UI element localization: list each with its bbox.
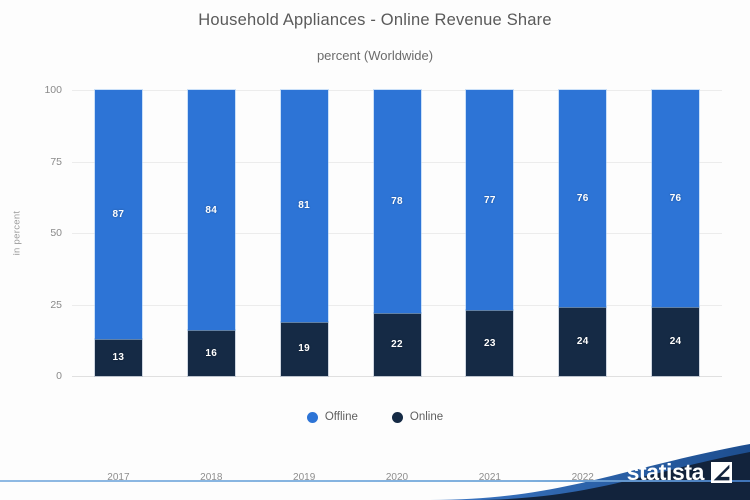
- bar-column[interactable]: 2476: [652, 90, 699, 376]
- bar-segment-online[interactable]: 22: [374, 313, 421, 376]
- gridline: [72, 376, 722, 377]
- bar-value-label: 84: [205, 205, 217, 216]
- bar-segment-online[interactable]: 24: [652, 307, 699, 376]
- bar-value-label: 16: [205, 348, 217, 359]
- statista-brand: statista: [627, 461, 732, 484]
- statista-logo-mark-icon: [711, 462, 732, 483]
- bar-value-label: 19: [298, 343, 310, 354]
- bar-segment-offline[interactable]: 76: [652, 90, 699, 307]
- y-axis-tick-label: 75: [50, 156, 62, 168]
- legend-label: Online: [410, 411, 443, 423]
- bar-column[interactable]: 2476: [559, 90, 606, 376]
- bar-value-label: 77: [484, 195, 496, 206]
- chart-footer: statista: [0, 438, 750, 500]
- bar-segment-online[interactable]: 13: [95, 339, 142, 376]
- bar-column[interactable]: 2278: [374, 90, 421, 376]
- plot-area: 1387201716842018198120192278202023772021…: [72, 90, 722, 376]
- y-axis-tick-label: 0: [56, 370, 62, 382]
- bar-segment-offline[interactable]: 77: [466, 90, 513, 310]
- bar-segment-offline[interactable]: 81: [281, 90, 328, 322]
- legend-label: Offline: [325, 411, 358, 423]
- chart-legend: OfflineOnline: [0, 411, 750, 423]
- y-axis-tick-label: 100: [44, 84, 62, 96]
- legend-item[interactable]: Offline: [307, 411, 358, 423]
- bar-segment-online[interactable]: 24: [559, 307, 606, 376]
- bar-value-label: 76: [577, 193, 589, 204]
- bar-column[interactable]: 1387: [95, 90, 142, 376]
- bar-value-label: 76: [670, 193, 682, 204]
- legend-swatch-icon: [307, 412, 318, 423]
- bar-column[interactable]: 1684: [188, 90, 235, 376]
- legend-swatch-icon: [392, 412, 403, 423]
- bar-value-label: 78: [391, 196, 403, 207]
- bar-segment-offline[interactable]: 84: [188, 90, 235, 330]
- bar-value-label: 24: [577, 336, 589, 347]
- bar-column[interactable]: 1981: [281, 90, 328, 376]
- bar-segment-online[interactable]: 19: [281, 322, 328, 376]
- statista-wordmark: statista: [627, 461, 704, 484]
- chart-title: Household Appliances - Online Revenue Sh…: [0, 11, 750, 30]
- bar-value-label: 13: [113, 352, 125, 363]
- bar-value-label: 87: [113, 209, 125, 220]
- bar-segment-offline[interactable]: 78: [374, 90, 421, 313]
- bar-value-label: 24: [670, 336, 682, 347]
- bar-column[interactable]: 2377: [466, 90, 513, 376]
- bar-value-label: 81: [298, 200, 310, 211]
- y-axis-tick-label: 25: [50, 299, 62, 311]
- y-axis-tick-label: 50: [50, 227, 62, 239]
- bar-segment-offline[interactable]: 76: [559, 90, 606, 307]
- legend-item[interactable]: Online: [392, 411, 443, 423]
- bar-segment-online[interactable]: 23: [466, 310, 513, 376]
- y-axis-title: in percent: [12, 188, 23, 278]
- bar-value-label: 22: [391, 339, 403, 350]
- bar-segment-offline[interactable]: 87: [95, 90, 142, 339]
- chart-container: Household Appliances - Online Revenue Sh…: [0, 0, 750, 500]
- y-axis: in percent 0255075100: [0, 90, 72, 376]
- bar-value-label: 23: [484, 338, 496, 349]
- bar-segment-online[interactable]: 16: [188, 330, 235, 376]
- chart-subtitle: percent (Worldwide): [0, 48, 750, 63]
